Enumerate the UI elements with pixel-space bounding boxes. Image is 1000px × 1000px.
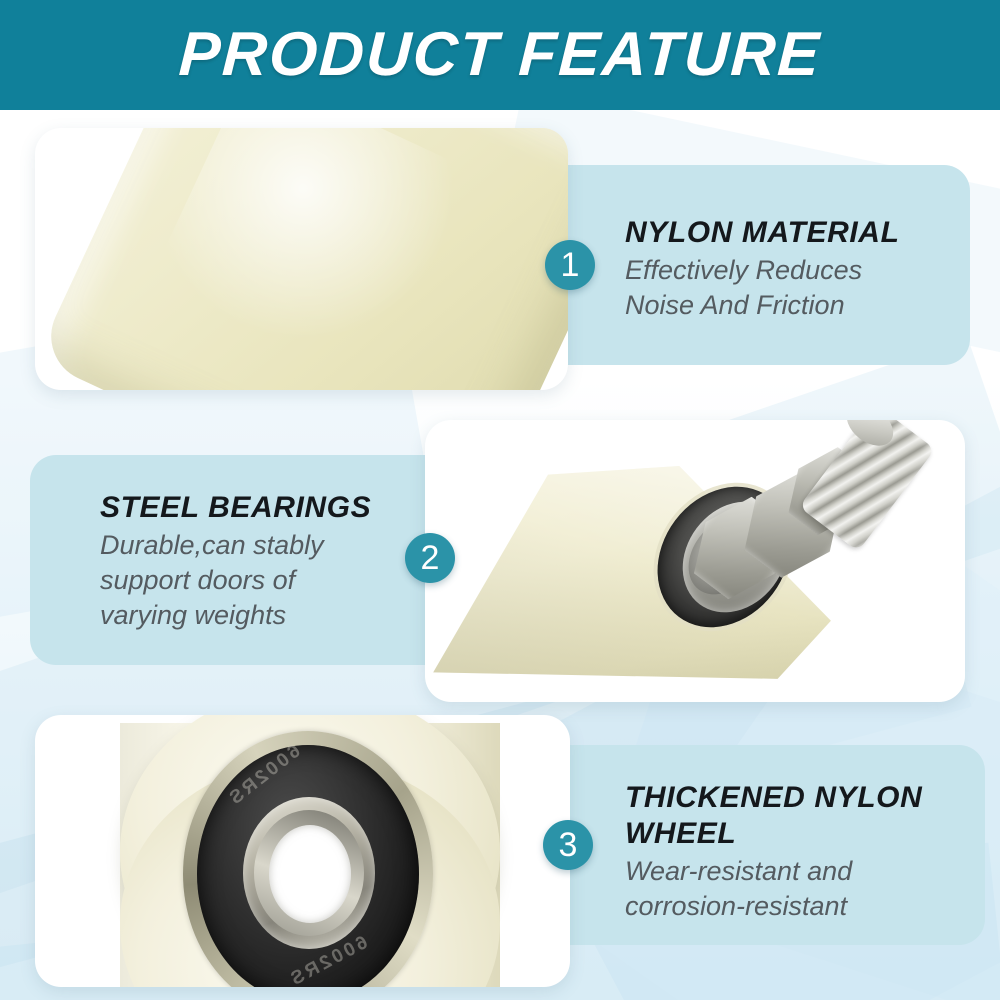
feature-description-3: Wear-resistant and corrosion-resistant [625,854,970,924]
feature-photo-card-3: 6002RS 6002RS [35,715,570,987]
feature-description-1: Effectively Reduces Noise And Friction [625,253,955,323]
header-banner: PRODUCT FEATURE [0,0,1000,110]
feature-photo-card-1 [35,128,568,390]
feature-photo-card-2 [425,420,965,702]
feature-number-badge-2: 2 [405,533,455,583]
feature-description-line: Durable,can stably [100,528,420,563]
feature-description-line: support doors of [100,563,420,598]
feature-description-line: Effectively Reduces [625,253,955,288]
bearing-bore-hole [269,825,351,923]
feature-text-1: NYLON MATERIAL Effectively Reduces Noise… [625,215,955,323]
feature-description-line: varying weights [100,598,420,633]
page-title: PRODUCT FEATURE [177,24,822,86]
feature-number-badge-3: 3 [543,820,593,870]
feature-title-1: NYLON MATERIAL [625,215,955,251]
feature-description-line: Noise And Friction [625,288,955,323]
feature-title-3: THICKENED NYLON WHEEL [625,780,970,852]
feature-description-2: Durable,can stably support doors of vary… [100,528,420,633]
feature-number-badge-1: 1 [545,240,595,290]
feature-text-2: STEEL BEARINGS Durable,can stably suppor… [100,490,420,633]
feature-description-line: corrosion-resistant [625,889,970,924]
feature-text-3: THICKENED NYLON WHEEL Wear-resistant and… [625,780,970,924]
feature-title-2: STEEL BEARINGS [100,490,420,526]
feature-description-line: Wear-resistant and [625,854,970,889]
infographic-page: PRODUCT FEATURE NYLON MATERIAL Effective… [0,0,1000,1000]
